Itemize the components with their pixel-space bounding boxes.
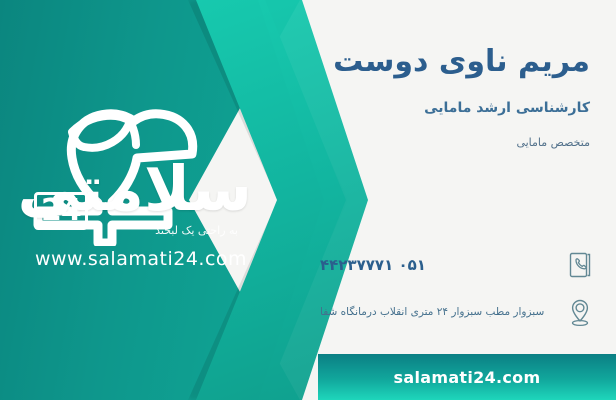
- footer-website: salamati24.com: [394, 368, 541, 387]
- address-text-wrap: سبزوار مطب سبزوار ۲۴ متری انقلاب درمانگا…: [316, 306, 564, 320]
- doctor-name: مریم ناوی دوست: [333, 44, 590, 79]
- phone-text-wrap: ۴۴۲۳۷۷۷۱ ۰۵۱: [316, 256, 564, 274]
- map-pin-icon: [564, 296, 596, 330]
- footer-bar[interactable]: salamati24.com: [318, 354, 616, 400]
- contact-row-address[interactable]: سبزوار مطب سبزوار ۲۴ متری انقلاب درمانگا…: [316, 296, 596, 330]
- doctor-specialty: متخصص مامایی: [516, 136, 590, 149]
- phone-book-icon: [564, 248, 596, 282]
- logo-tagline: به راحتی یک لبخند: [155, 224, 238, 237]
- contact-row-phone[interactable]: ۴۴۲۳۷۷۷۱ ۰۵۱: [316, 248, 596, 282]
- logo-website-url: www.salamati24.com: [16, 248, 266, 270]
- brand-logo: سلامتی 24 به راحتی یک لبخند www.salamati…: [16, 96, 266, 286]
- address-text: سبزوار مطب سبزوار ۲۴ متری انقلاب درمانگا…: [320, 306, 554, 320]
- business-card: سلامتی 24 به راحتی یک لبخند www.salamati…: [0, 0, 616, 400]
- phone-number: ۴۴۲۳۷۷۷۱ ۰۵۱: [320, 256, 554, 274]
- contact-list: ۴۴۲۳۷۷۷۱ ۰۵۱ سبزوار مطب سبزوار ۲۴ متری ا…: [316, 248, 596, 344]
- logo-24-badge: 24: [34, 192, 88, 230]
- doctor-degree: کارشناسی ارشد مامایی: [424, 100, 590, 116]
